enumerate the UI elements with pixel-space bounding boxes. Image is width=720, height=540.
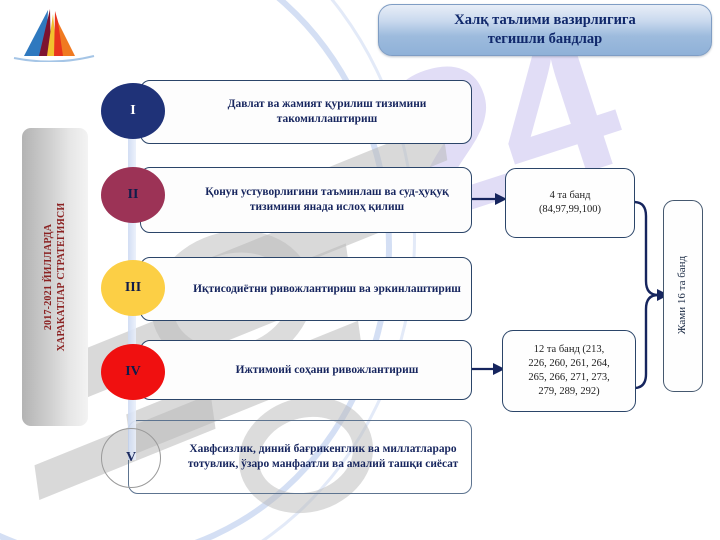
sail-flame-logo — [6, 6, 102, 62]
total-box-label-wrap: Жами 16 та банд — [663, 200, 701, 390]
count-box-12[interactable]: 12 та банд (213, 226, 260, 261, 264, 265… — [502, 330, 636, 412]
direction-circle-1[interactable]: I — [101, 83, 165, 139]
count-box-12-line2: 226, 260, 261, 264, — [520, 358, 617, 369]
count-box-4-text: 4 та банд (84,97,99,100) — [523, 189, 617, 217]
direction-numeral-5: V — [126, 450, 136, 466]
count-box-12-text: 12 та банд (213, 226, 260, 261, 264, 265… — [512, 343, 625, 400]
strategy-line1: 2017-2021 ЙИЛЛАРДА — [43, 224, 54, 330]
count-box-4-line2: (84,97,99,100) — [531, 204, 609, 215]
direction-numeral-4: IV — [125, 364, 141, 380]
page-title-line2: тегишли бандлар — [454, 30, 636, 49]
count-box-4[interactable]: 4 та банд (84,97,99,100) — [505, 168, 635, 238]
count-box-12-line1: 12 та банд (213, — [526, 344, 613, 355]
direction-text-2: Қонун устуворлигини таъминлаш ва суд-ҳуқ… — [141, 185, 471, 215]
page-title-line1: Халқ таълими вазирлигига — [454, 11, 636, 30]
direction-numeral-1: I — [130, 103, 135, 119]
count-box-12-line3: 265, 266, 271, 273, — [520, 372, 617, 383]
page-title-text: Халқ таълими вазирлигига тегишли бандлар — [446, 11, 644, 48]
direction-text-1: Давлат ва жамият қурилиш тизимини такоми… — [141, 97, 471, 127]
direction-row-1[interactable]: Давлат ва жамият қурилиш тизимини такоми… — [140, 80, 472, 144]
direction-text-3: Иқтисодиётни ривожлантириш ва эркинлашти… — [141, 282, 471, 297]
direction-text-5: Хавфсизлик, диний бағрикенглик ва миллат… — [129, 442, 471, 472]
direction-row-5[interactable]: Хавфсизлик, диний бағрикенглик ва миллат… — [128, 420, 472, 494]
direction-circle-4[interactable]: IV — [101, 344, 165, 400]
slide-canvas: 24 Халқ таълими вазирлигига тегишли банд… — [0, 0, 720, 540]
direction-circle-5[interactable]: V — [101, 428, 161, 488]
direction-circle-3[interactable]: III — [101, 260, 165, 316]
strategy-line2: ХАРАКАТЛАР СТРАТЕГИЯСИ — [56, 203, 67, 352]
direction-row-2[interactable]: Қонун устуворлигини таъминлаш ва суд-ҳуқ… — [140, 167, 472, 233]
direction-circle-2[interactable]: II — [101, 167, 165, 223]
count-box-12-line4: 279, 289, 292) — [530, 386, 607, 397]
direction-numeral-3: III — [125, 280, 141, 296]
direction-row-4[interactable]: Ижтимоий соҳани ривожлантириш — [140, 340, 472, 400]
page-title: Халқ таълими вазирлигига тегишли бандлар — [378, 4, 712, 56]
strategy-vertical-text: 2017-2021 ЙИЛЛАРДА ХАРАКАТЛАР СТРАТЕГИЯС… — [22, 128, 88, 426]
total-box-label: Жами 16 та банд — [676, 256, 688, 334]
direction-numeral-2: II — [128, 187, 139, 203]
direction-row-3[interactable]: Иқтисодиётни ривожлантириш ва эркинлашти… — [140, 257, 472, 321]
count-box-4-line1: 4 та банд — [542, 190, 599, 201]
direction-text-4: Ижтимоий соҳани ривожлантириш — [184, 363, 429, 378]
